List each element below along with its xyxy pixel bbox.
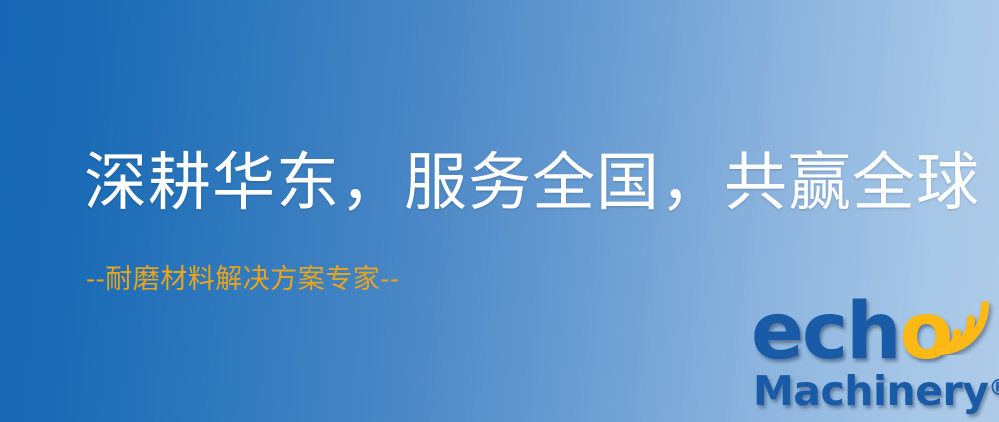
logo-wordmark-blue: ech — [751, 287, 900, 377]
logo-company-name: Machinery — [753, 367, 988, 415]
logo-mark: echo Machinery® — [749, 293, 999, 422]
logo-sub-text: Machinery® — [753, 371, 999, 412]
page-subtitle: --耐磨材料解决方案专家-- — [86, 266, 400, 293]
brand-logo[interactable]: echo Machinery® — [749, 293, 999, 422]
page-title: 深耕华东，服务全国，共赢全球 — [84, 151, 980, 214]
registered-trademark-icon: ® — [988, 376, 999, 401]
hero-banner: 深耕华东，服务全国，共赢全球 --耐磨材料解决方案专家-- echo — [0, 0, 999, 422]
logo-wordmark: echo — [751, 293, 951, 371]
logo-wordmark-gold-o: o — [900, 287, 952, 377]
